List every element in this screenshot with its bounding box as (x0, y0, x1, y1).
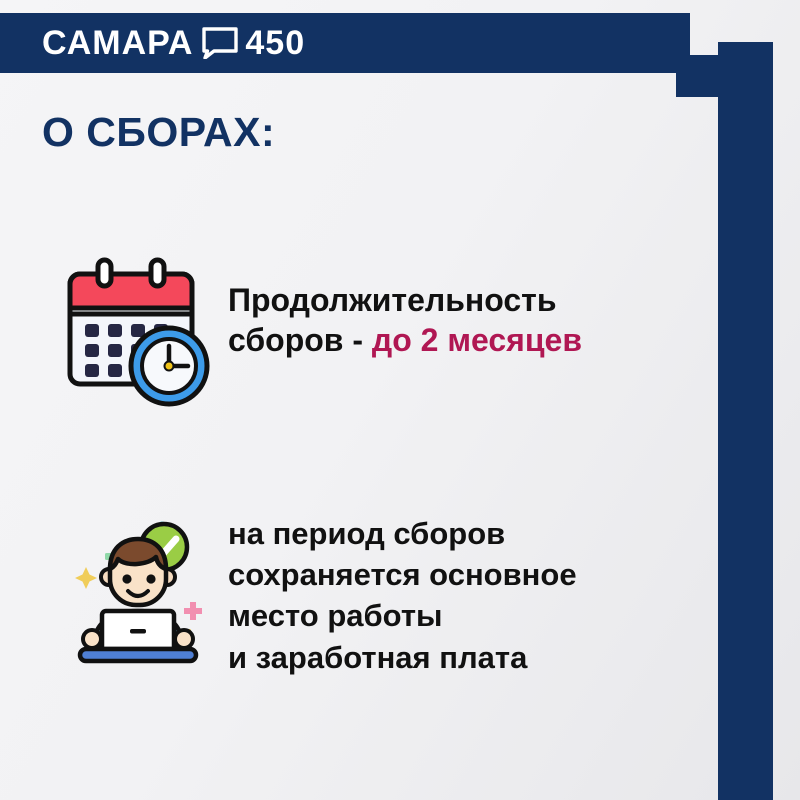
info-item-duration: Продолжительность сборов - до 2 месяцев (58, 252, 582, 417)
duration-text: Продолжительность сборов - до 2 месяцев (228, 252, 582, 361)
workplace-line-2: сохраняется основное (228, 554, 577, 595)
frame-right-bar (718, 42, 773, 800)
workplace-line-3: место работы (228, 595, 577, 636)
calendar-clock-icon (58, 252, 228, 417)
workplace-line-1: на период сборов (228, 513, 577, 554)
duration-line-1: Продолжительность (228, 280, 582, 320)
workplace-text: на период сборов сохраняется основное ме… (228, 505, 577, 678)
duration-line-2: сборов - до 2 месяцев (228, 320, 582, 360)
page-title: О СБОРАХ: (42, 110, 275, 155)
workplace-line-4: и заработная плата (228, 637, 577, 678)
speech-bubble-icon (202, 27, 238, 59)
person-at-laptop-icon (58, 505, 228, 670)
brand-number: 450 (245, 26, 305, 60)
brand-logo: САМАРА 450 (0, 13, 690, 73)
duration-prefix: сборов - (228, 322, 372, 358)
duration-accent: до 2 месяцев (372, 322, 582, 358)
brand-name: САМАРА (42, 26, 193, 60)
poster-root: САМАРА 450 О СБОРАХ: (0, 0, 800, 800)
info-item-workplace: на период сборов сохраняется основное ме… (58, 505, 577, 678)
